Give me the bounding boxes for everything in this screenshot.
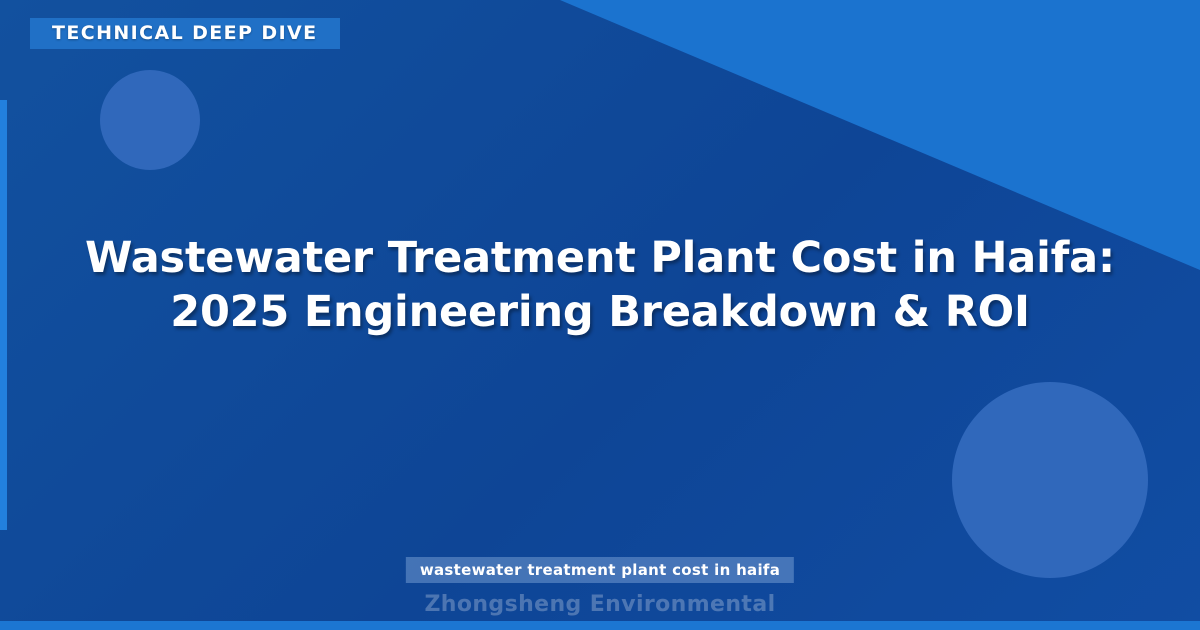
brand-watermark: Zhongsheng Environmental [0,592,1200,617]
card-content: TECHNICAL DEEP DIVE Wastewater Treatment… [0,0,1200,630]
keyword-tag: wastewater treatment plant cost in haifa [406,557,794,583]
eyebrow-badge: TECHNICAL DEEP DIVE [30,18,340,49]
title-heading: Wastewater Treatment Plant Cost in Haifa… [60,232,1140,340]
page-title: Wastewater Treatment Plant Cost in Haifa… [0,232,1200,340]
title-line-2: 2025 Engineering Breakdown & ROI [60,286,1140,340]
social-share-card: TECHNICAL DEEP DIVE Wastewater Treatment… [0,0,1200,630]
title-line-1: Wastewater Treatment Plant Cost in Haifa… [60,232,1140,286]
